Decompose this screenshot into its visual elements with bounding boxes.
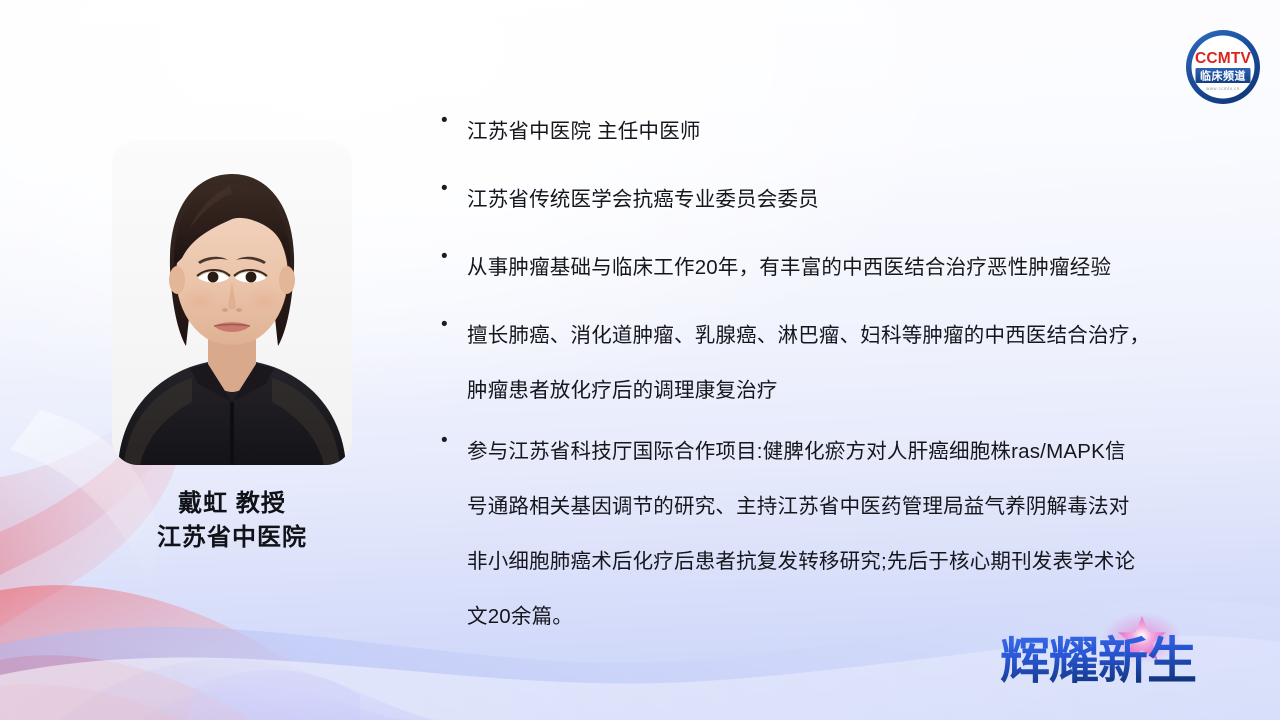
bio-item-text: 参与江苏省科技厅国际合作项目:健脾化瘀方对人肝癌细胞株ras/MAPK信 号通路…	[467, 424, 1135, 644]
bullet-marker-icon: •	[437, 308, 467, 342]
speaker-organization: 江苏省中医院	[112, 521, 352, 555]
bio-item-text: 擅长肺癌、消化道肿瘤、乳腺癌、淋巴瘤、妇科等肿瘤的中西医结合治疗， 肿瘤患者放化…	[467, 308, 1150, 418]
list-item: • 参与江苏省科技厅国际合作项目:健脾化瘀方对人肝癌细胞株ras/MAPK信 号…	[437, 424, 1247, 644]
bio-item-line: 肿瘤患者放化疗后的调理康复治疗	[467, 363, 1150, 418]
program-brand-logo: 辉耀新生	[996, 612, 1258, 698]
bullet-marker-icon: •	[437, 172, 467, 206]
list-item: • 江苏省中医院 主任中医师	[437, 104, 1247, 159]
bio-item-text: 从事肿瘤基础与临床工作20年，有丰富的中西医结合治疗恶性肿瘤经验	[467, 240, 1247, 295]
bullet-marker-icon: •	[437, 240, 467, 274]
ccmtv-channel-name: 临床频道	[1200, 69, 1246, 83]
ccmtv-url: www.ccmtv.cn	[1206, 86, 1239, 91]
bullet-marker-icon: •	[437, 104, 467, 138]
bio-item-line: 参与江苏省科技厅国际合作项目:健脾化瘀方对人肝癌细胞株ras/MAPK信	[467, 424, 1135, 479]
bio-item-text: 江苏省传统医学会抗癌专业委员会委员	[467, 172, 1247, 227]
speaker-profile: 戴虹 教授 江苏省中医院	[112, 140, 352, 555]
list-item: • 江苏省传统医学会抗癌专业委员会委员	[437, 172, 1247, 227]
bio-item-line: 号通路相关基因调节的研究、主持江苏省中医药管理局益气养阴解毒法对	[467, 479, 1135, 534]
bio-item-line: 非小细胞肺癌术后化疗后患者抗复发转移研究;先后于核心期刊发表学术论	[467, 534, 1135, 589]
program-brand-text: 辉耀新生	[1000, 633, 1196, 689]
list-item: • 擅长肺癌、消化道肿瘤、乳腺癌、淋巴瘤、妇科等肿瘤的中西医结合治疗， 肿瘤患者…	[437, 308, 1247, 418]
list-item: • 从事肿瘤基础与临床工作20年，有丰富的中西医结合治疗恶性肿瘤经验	[437, 240, 1247, 295]
ccmtv-logo: CCMTV 临床频道 www.ccmtv.cn	[1184, 28, 1262, 106]
ccmtv-wordmark: CCMTV	[1195, 50, 1252, 67]
bio-item-line: 擅长肺癌、消化道肿瘤、乳腺癌、淋巴瘤、妇科等肿瘤的中西医结合治疗，	[467, 308, 1150, 363]
speaker-intro-slide: 戴虹 教授 江苏省中医院 • 江苏省中医院 主任中医师 • 江苏省传统医学会抗癌…	[0, 0, 1280, 720]
speaker-bio-list: • 江苏省中医院 主任中医师 • 江苏省传统医学会抗癌专业委员会委员 • 从事肿…	[437, 104, 1247, 657]
speaker-caption: 戴虹 教授 江苏省中医院	[112, 487, 352, 555]
speaker-photo	[112, 140, 352, 465]
bullet-marker-icon: •	[437, 424, 467, 458]
speaker-name: 戴虹 教授	[112, 487, 352, 521]
bio-item-text: 江苏省中医院 主任中医师	[467, 104, 1247, 159]
